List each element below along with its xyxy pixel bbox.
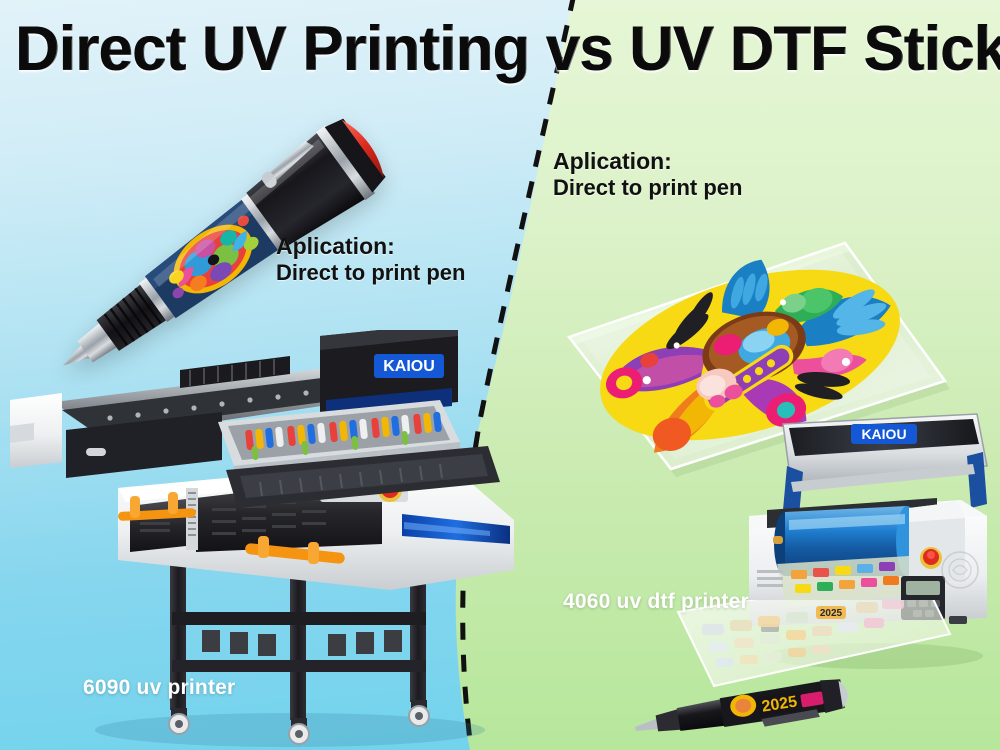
right-application-caption: Aplication: Direct to print pen bbox=[553, 148, 742, 201]
page-title: Direct UV Printing vs UV DTF Sticker bbox=[15, 17, 985, 83]
right-product-caption: 4060 uv dtf printer bbox=[563, 590, 749, 614]
left-application-value: Direct to print pen bbox=[276, 260, 465, 286]
kaiou-badge-text-right: KAIOU bbox=[861, 426, 906, 442]
pen-with-dtf-sticker: 2025 bbox=[633, 676, 851, 746]
right-application-value: Direct to print pen bbox=[553, 175, 742, 201]
left-product-caption: 6090 uv printer bbox=[83, 676, 235, 700]
left-application-label: Aplication: bbox=[276, 233, 465, 260]
sticker-sheet-and-pen: 2025 bbox=[620, 600, 960, 750]
right-application-label: Aplication: bbox=[553, 148, 742, 175]
emergency-stop-button-right bbox=[920, 547, 942, 569]
sheet-year-text: 2025 bbox=[820, 608, 843, 619]
left-application-caption: Aplication: Direct to print pen bbox=[276, 233, 465, 286]
uv-flatbed-printer-6090: KAIOU bbox=[0, 330, 530, 750]
poster-canvas: KAIOU bbox=[0, 0, 1000, 750]
kaiou-badge-text-left: KAIOU bbox=[383, 358, 435, 375]
